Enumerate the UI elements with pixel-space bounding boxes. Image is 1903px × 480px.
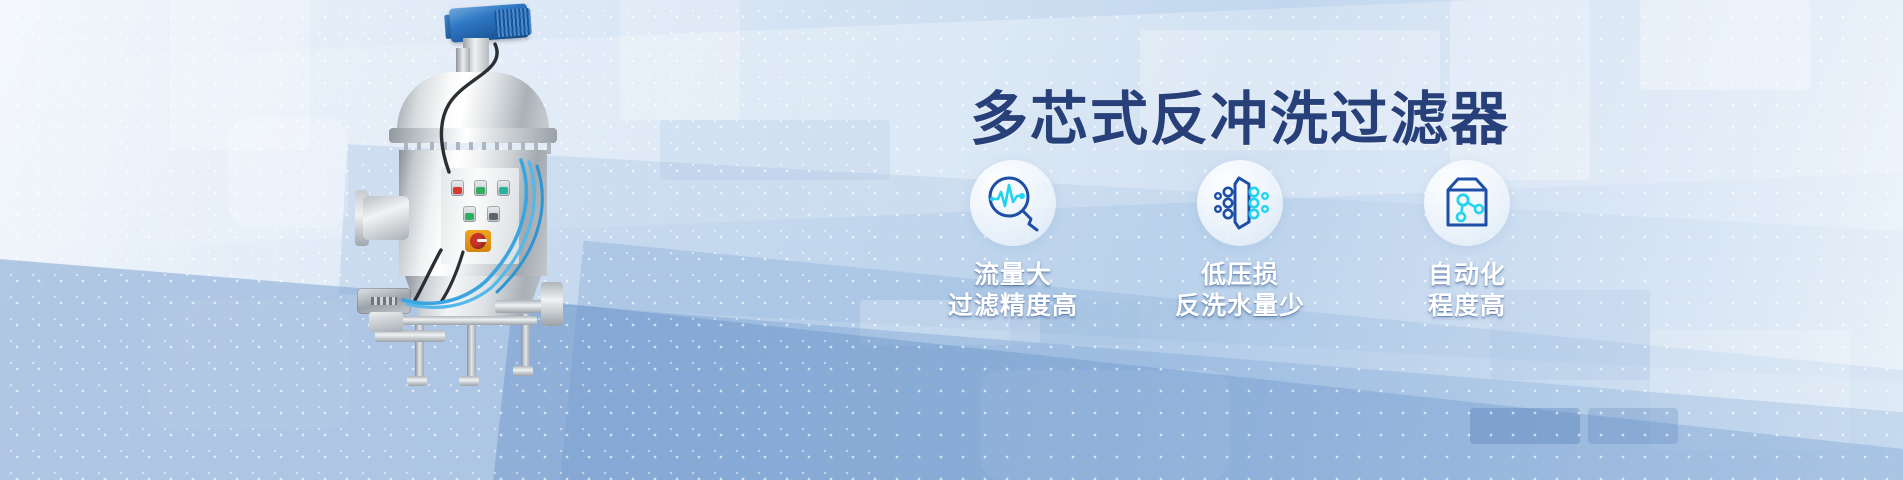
feature-item-flow: 流量大 过滤精度高 xyxy=(918,160,1108,321)
indicator-lamp-green-2 xyxy=(463,206,476,222)
pneumatic-actuator xyxy=(357,288,411,314)
banner-content: 多芯式反冲洗过滤器 流量大 过滤精度高 xyxy=(900,0,1580,480)
vessel-top-flange xyxy=(389,128,557,143)
feature-label-line2: 过滤精度高 xyxy=(948,291,1078,322)
page-title: 多芯式反冲洗过滤器 xyxy=(900,72,1580,156)
magnifier-pulse-icon xyxy=(982,172,1044,234)
feature-label-line1: 低压损 xyxy=(1201,261,1279,289)
indicator-lamp-grey xyxy=(487,206,500,222)
support-leg xyxy=(467,318,476,384)
feature-label-line1: 流量大 xyxy=(974,261,1052,289)
feature-icon-wrapper xyxy=(1197,160,1283,246)
vessel-dome-lid xyxy=(397,72,549,134)
feature-label-line2: 程度高 xyxy=(1428,291,1506,322)
feature-label-line1: 自动化 xyxy=(1428,261,1506,289)
feature-label: 低压损 反洗水量少 xyxy=(1175,260,1305,321)
feature-icon-wrapper xyxy=(970,160,1056,246)
control-panel xyxy=(441,168,519,264)
support-leg xyxy=(415,318,424,384)
feature-icon-wrapper xyxy=(1424,160,1510,246)
leg-foot xyxy=(407,376,427,386)
feature-label-line2: 反洗水量少 xyxy=(1175,291,1305,322)
rotary-selector-knob xyxy=(465,230,491,252)
leg-foot xyxy=(459,376,479,386)
feature-list: 流量大 过滤精度高 xyxy=(900,160,1580,321)
feature-item-pressure: 低压损 反洗水量少 xyxy=(1145,160,1335,321)
feature-item-automation: 自动化 程度高 xyxy=(1372,160,1562,321)
product-image xyxy=(345,0,645,400)
motor-cooling-fins xyxy=(494,8,532,37)
indicator-lamp-teal xyxy=(497,180,510,196)
indicator-lamp-red xyxy=(451,180,464,196)
feature-label: 流量大 过滤精度高 xyxy=(948,260,1078,321)
base-manifold-pipe xyxy=(403,316,537,325)
indicator-lamp-green xyxy=(474,180,487,196)
ball-valve-body xyxy=(369,312,403,332)
leg-foot xyxy=(513,366,533,376)
product-banner: 多芯式反冲洗过滤器 流量大 过滤精度高 xyxy=(0,0,1903,480)
side-outlet-flange xyxy=(363,196,409,240)
feature-label: 自动化 程度高 xyxy=(1428,260,1506,321)
discharge-flange xyxy=(541,282,563,326)
membrane-particles-icon xyxy=(1209,172,1271,234)
automation-box-nodes-icon xyxy=(1436,172,1498,234)
